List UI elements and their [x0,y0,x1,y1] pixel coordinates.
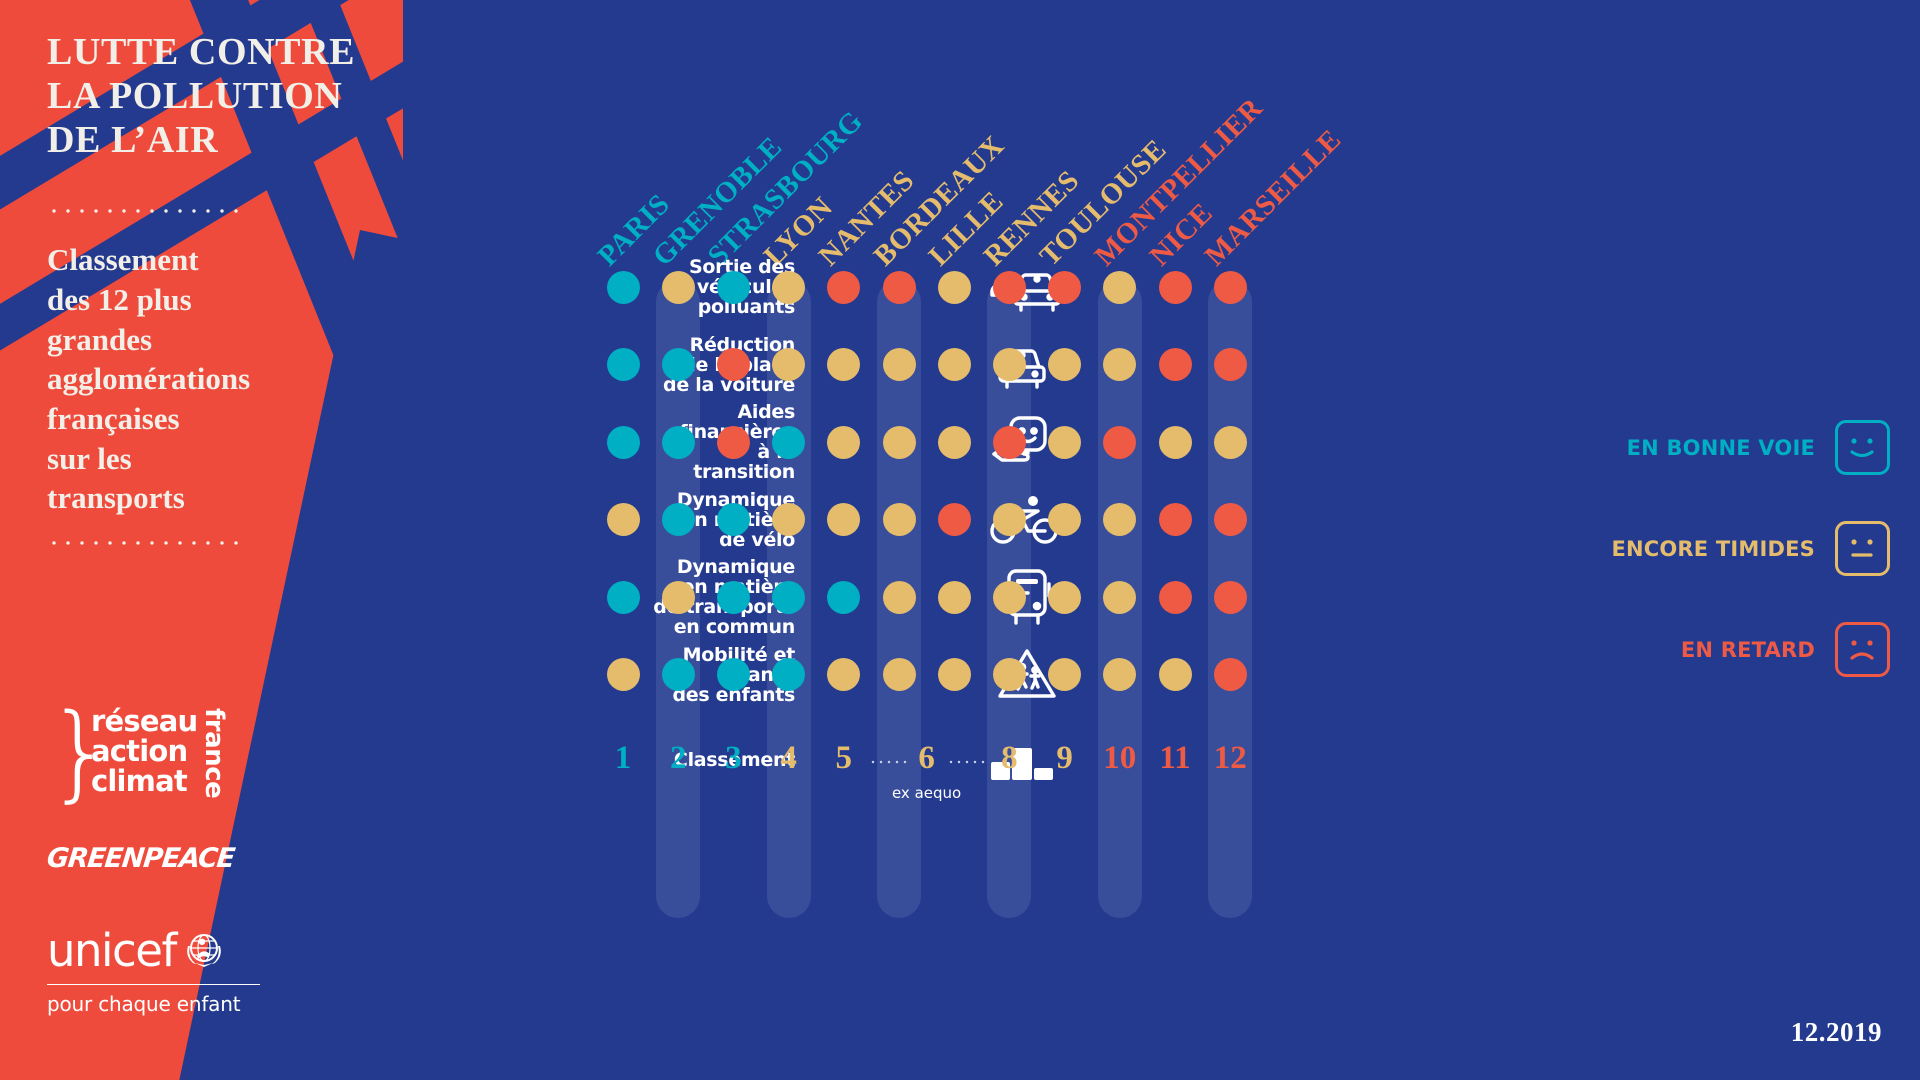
rac-logo-line2: action [91,736,187,766]
rating-dot-r2-c2[interactable] [662,348,695,381]
unicef-globe-emblem-icon [182,926,226,975]
rating-dot-r1-c1[interactable] [607,271,640,304]
rating-dot-r6-c1[interactable] [607,658,640,691]
rating-dot-r5-c7[interactable] [938,581,971,614]
rank-nice: 11 [1153,740,1197,777]
rating-dot-r6-c5[interactable] [827,658,860,691]
rank-marseille: 12 [1208,740,1252,777]
rating-dot-r1-c6[interactable] [883,271,916,304]
rating-dot-r1-c4[interactable] [772,271,805,304]
rating-dot-r4-c8[interactable] [993,503,1026,536]
rating-dot-r4-c2[interactable] [662,503,695,536]
rating-dot-r2-c12[interactable] [1214,348,1247,381]
rating-dot-r6-c3[interactable] [717,658,750,691]
unicef-wordmark: unicef [47,928,176,974]
rating-dot-r6-c12[interactable] [1214,658,1247,691]
legend-label-2: ENCORE TIMIDES [1611,537,1815,561]
unicef-divider [47,984,260,985]
rating-dot-r5-c2[interactable] [662,581,695,614]
partner-logos: } réseau action climat france GREENPEACE… [47,700,377,1016]
rating-dot-r3-c3[interactable] [717,426,750,459]
rank-montpellier: 10 [1098,740,1142,777]
criterion-3-line-4: transition [545,462,795,482]
page-subtitle-line-3: grandes [47,320,377,360]
rating-dot-r1-c2[interactable] [662,271,695,304]
neutral-face-icon [1835,521,1890,576]
page-subtitle: Classementdes 12 plusgrandesagglomératio… [47,240,377,518]
rac-logo-line3: climat [91,766,187,796]
rating-dot-r6-c9[interactable] [1048,658,1081,691]
rating-dot-r5-c10[interactable] [1103,581,1136,614]
rating-dot-r3-c4[interactable] [772,426,805,459]
left-title-panel: LUTTE CONTRELA POLLUTIONDE L’AIR Classem… [0,0,403,1080]
date-stamp: 12.2019 [1791,1017,1882,1048]
rating-dot-r6-c7[interactable] [938,658,971,691]
criterion-5-line-4: en commun [545,617,795,637]
rating-dot-r2-c4[interactable] [772,348,805,381]
page-title-line-1: LUTTE CONTRE [47,30,377,74]
rating-dot-r4-c6[interactable] [883,503,916,536]
rating-dot-r5-c11[interactable] [1159,581,1192,614]
rating-dot-r2-c6[interactable] [883,348,916,381]
rating-dot-r3-c2[interactable] [662,426,695,459]
rating-dot-r1-c11[interactable] [1159,271,1192,304]
rank-strasbourg: 3 [711,740,755,777]
page-subtitle-line-2: des 12 plus [47,280,377,320]
rank-bordeaux: 6 [905,740,949,777]
rating-dot-r3-c12[interactable] [1214,426,1247,459]
rating-dot-r6-c4[interactable] [772,658,805,691]
rating-dot-r3-c8[interactable] [993,426,1026,459]
rating-dot-r3-c5[interactable] [827,426,860,459]
legend-item-1: EN BONNE VOIE [1590,420,1890,475]
rating-dot-r3-c1[interactable] [607,426,640,459]
rating-dot-r6-c6[interactable] [883,658,916,691]
rating-dot-r6-c8[interactable] [993,658,1026,691]
page-title: LUTTE CONTRELA POLLUTIONDE L’AIR [47,30,377,162]
rac-logo-france: france [199,708,229,798]
rating-dot-r5-c3[interactable] [717,581,750,614]
neutral-happy-face-icon [1835,420,1890,475]
unicef-tagline: pour chaque enfant [47,992,262,1016]
rating-dot-r5-c12[interactable] [1214,581,1247,614]
rating-dot-r4-c7[interactable] [938,503,971,536]
ex-aequo-dots-left [869,760,907,764]
criterion-5-line-1: Dynamique [545,557,795,577]
rating-dot-r5-c5[interactable] [827,581,860,614]
rating-dot-r5-c4[interactable] [772,581,805,614]
page-subtitle-line-6: sur les [47,439,377,479]
unicef-logo: unicef pou [47,926,262,1016]
rac-logo-line1: réseau [91,706,197,736]
rating-dot-r2-c5[interactable] [827,348,860,381]
rating-dot-r1-c8[interactable] [993,271,1026,304]
legend: EN BONNE VOIE ENCORE TIMIDES EN RETARD [1590,420,1890,723]
rating-dot-r3-c7[interactable] [938,426,971,459]
rating-dot-r5-c6[interactable] [883,581,916,614]
rating-dot-r5-c1[interactable] [607,581,640,614]
legend-item-2: ENCORE TIMIDES [1590,521,1890,576]
sad-face-icon [1835,622,1890,677]
rating-dot-r4-c3[interactable] [717,503,750,536]
page-title-line-2: LA POLLUTION [47,74,377,118]
rating-dot-r1-c7[interactable] [938,271,971,304]
rank-grenoble: 2 [656,740,700,777]
page-subtitle-line-4: agglomérations [47,359,377,399]
rating-dot-r3-c10[interactable] [1103,426,1136,459]
ex-aequo-label: ex aequo [857,784,997,802]
dotted-divider-bottom [47,540,242,546]
rating-dot-r2-c11[interactable] [1159,348,1192,381]
rating-dot-r1-c3[interactable] [717,271,750,304]
rating-dot-r3-c11[interactable] [1159,426,1192,459]
page-subtitle-line-1: Classement [47,240,377,280]
rating-dot-r4-c5[interactable] [827,503,860,536]
rating-dot-r4-c11[interactable] [1159,503,1192,536]
rating-dot-r1-c9[interactable] [1048,271,1081,304]
page-subtitle-line-5: françaises [47,399,377,439]
dotted-divider-top [47,208,242,214]
rank-toulouse: 9 [1043,740,1087,777]
rating-dot-r2-c8[interactable] [993,348,1026,381]
rating-dot-r6-c2[interactable] [662,658,695,691]
rating-dot-r1-c10[interactable] [1103,271,1136,304]
rank-nantes: 5 [822,740,866,777]
rating-dot-r2-c3[interactable] [717,348,750,381]
rating-dot-r4-c4[interactable] [772,503,805,536]
page-subtitle-line-7: transports [47,478,377,518]
rating-dot-r5-c9[interactable] [1048,581,1081,614]
rating-dot-r4-c9[interactable] [1048,503,1081,536]
rating-dot-r2-c1[interactable] [607,348,640,381]
rating-dot-r4-c1[interactable] [607,503,640,536]
ex-aequo-dots-right [947,760,985,764]
rating-dot-r4-c12[interactable] [1214,503,1247,536]
rating-dot-r1-c12[interactable] [1214,271,1247,304]
rank-paris: 1 [601,740,645,777]
rating-dot-r5-c8[interactable] [993,581,1026,614]
rating-dot-r3-c9[interactable] [1048,426,1081,459]
rating-dot-r1-c5[interactable] [827,271,860,304]
rank-lyon: 4 [767,740,811,777]
rating-dot-r2-c7[interactable] [938,348,971,381]
legend-label-3: EN RETARD [1681,638,1815,662]
reseau-action-climat-logo: } réseau action climat france [47,700,257,805]
legend-label-1: EN BONNE VOIE [1627,436,1815,460]
legend-item-3: EN RETARD [1590,622,1890,677]
greenpeace-logo: GREENPEACE [45,843,378,874]
page-title-line-3: DE L’AIR [47,118,377,162]
rating-dot-r2-c9[interactable] [1048,348,1081,381]
rating-dot-r6-c11[interactable] [1159,658,1192,691]
criterion-3-line-1: Aides [545,402,795,422]
rating-dot-r3-c6[interactable] [883,426,916,459]
rank-rennes: 8 [987,740,1031,777]
